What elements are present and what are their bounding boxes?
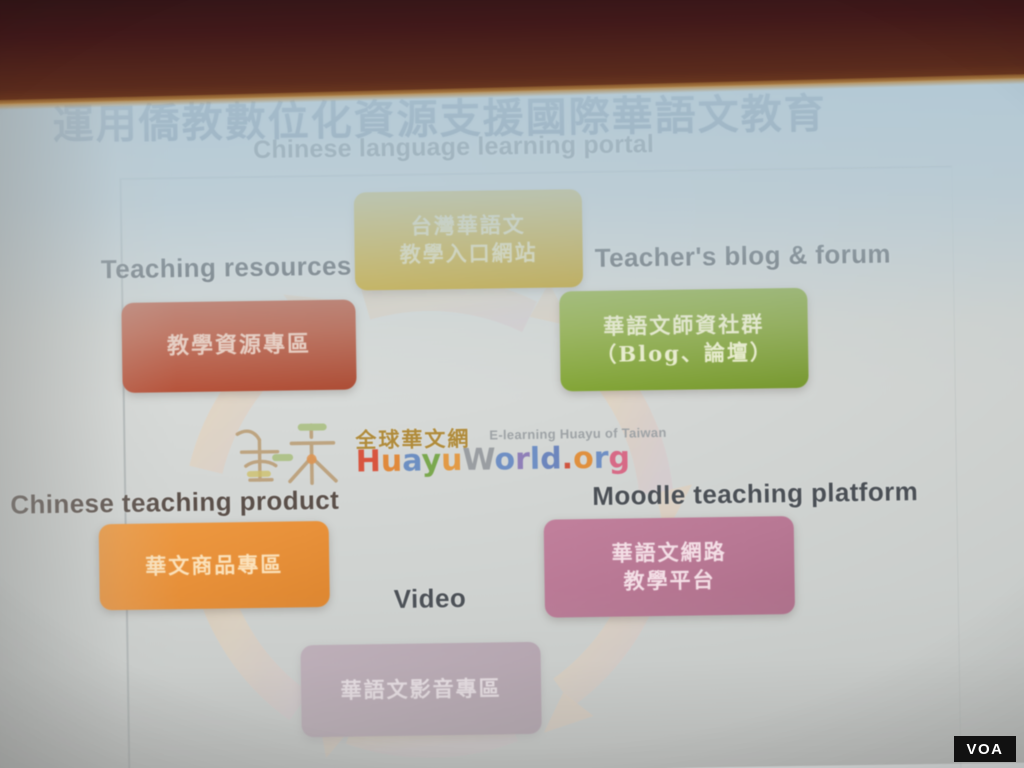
logo-url-letter-5: W — [462, 442, 495, 477]
logo-url-letter-9: d — [540, 441, 562, 476]
logo-url-letter-11: o — [573, 441, 594, 476]
node-portal-line2: 教學入口網站 — [399, 239, 537, 269]
caption-video: Video — [394, 583, 467, 615]
node-community-line2: （Blog、論壇） — [595, 338, 773, 368]
huayu-calligraphy-mark-icon — [227, 417, 346, 493]
node-resources-line1: 教學資源專區 — [167, 331, 311, 362]
logo-url-letter-6: o — [494, 442, 515, 477]
logo-url-letter-7: r — [515, 442, 530, 477]
node-portal[interactable]: 台灣華語文 教學入口網站 — [354, 189, 583, 290]
logo-url-letter-1: u — [381, 444, 403, 479]
logo-url[interactable]: HuayuWorld.org — [355, 440, 630, 479]
node-portal-line1: 台灣華語文 — [411, 211, 526, 240]
logo-url-letter-10: . — [561, 441, 573, 476]
logo-url-letter-12: r — [593, 441, 608, 476]
logo-url-letter-13: g — [608, 440, 630, 475]
node-teacher-community[interactable]: 華語文師資社群 （Blog、論壇） — [559, 288, 808, 392]
slide-surface: 運用僑教數位化資源支援國際華語文教育 Chinese language lear… — [0, 62, 1024, 768]
logo-url-letter-3: y — [421, 443, 441, 478]
logo-url-letter-4: u — [441, 443, 463, 478]
voa-watermark: VOA — [954, 736, 1016, 762]
logo-url-letter-0: H — [355, 444, 381, 479]
node-teaching-resources[interactable]: 教學資源專區 — [121, 299, 356, 392]
node-chinese-products[interactable]: 華文商品專區 — [99, 521, 330, 610]
logo-tagline: E-learning Huayu of Taiwan — [489, 425, 667, 443]
node-moodle-line2: 教學平台 — [623, 566, 715, 595]
slide-content: 運用僑教數位化資源支援國際華語文教育 Chinese language lear… — [0, 63, 1024, 768]
node-community-line1: 華語文師資社群 — [603, 311, 764, 341]
caption-teaching-resources: Teaching resources — [101, 251, 352, 286]
logo-url-letter-2: a — [402, 444, 422, 479]
node-video-area[interactable]: 華語文影音專區 — [300, 642, 541, 738]
page-subtitle-english: Chinese language learning portal — [253, 130, 654, 165]
node-video-line1: 華語文影音專區 — [340, 675, 501, 705]
photographed-slide: 運用僑教數位化資源支援國際華語文教育 Chinese language lear… — [0, 0, 1024, 768]
node-moodle-line1: 華語文網路 — [611, 538, 726, 567]
node-products-line1: 華文商品專區 — [145, 551, 283, 581]
huayuworld-logo[interactable]: 全球華文網 E-learning Huayu of Taiwan HuayuWo… — [227, 409, 698, 498]
node-moodle-platform[interactable]: 華語文網路 教學平台 — [544, 516, 795, 618]
caption-teacher-blog-forum: Teacher's blog & forum — [595, 239, 892, 274]
